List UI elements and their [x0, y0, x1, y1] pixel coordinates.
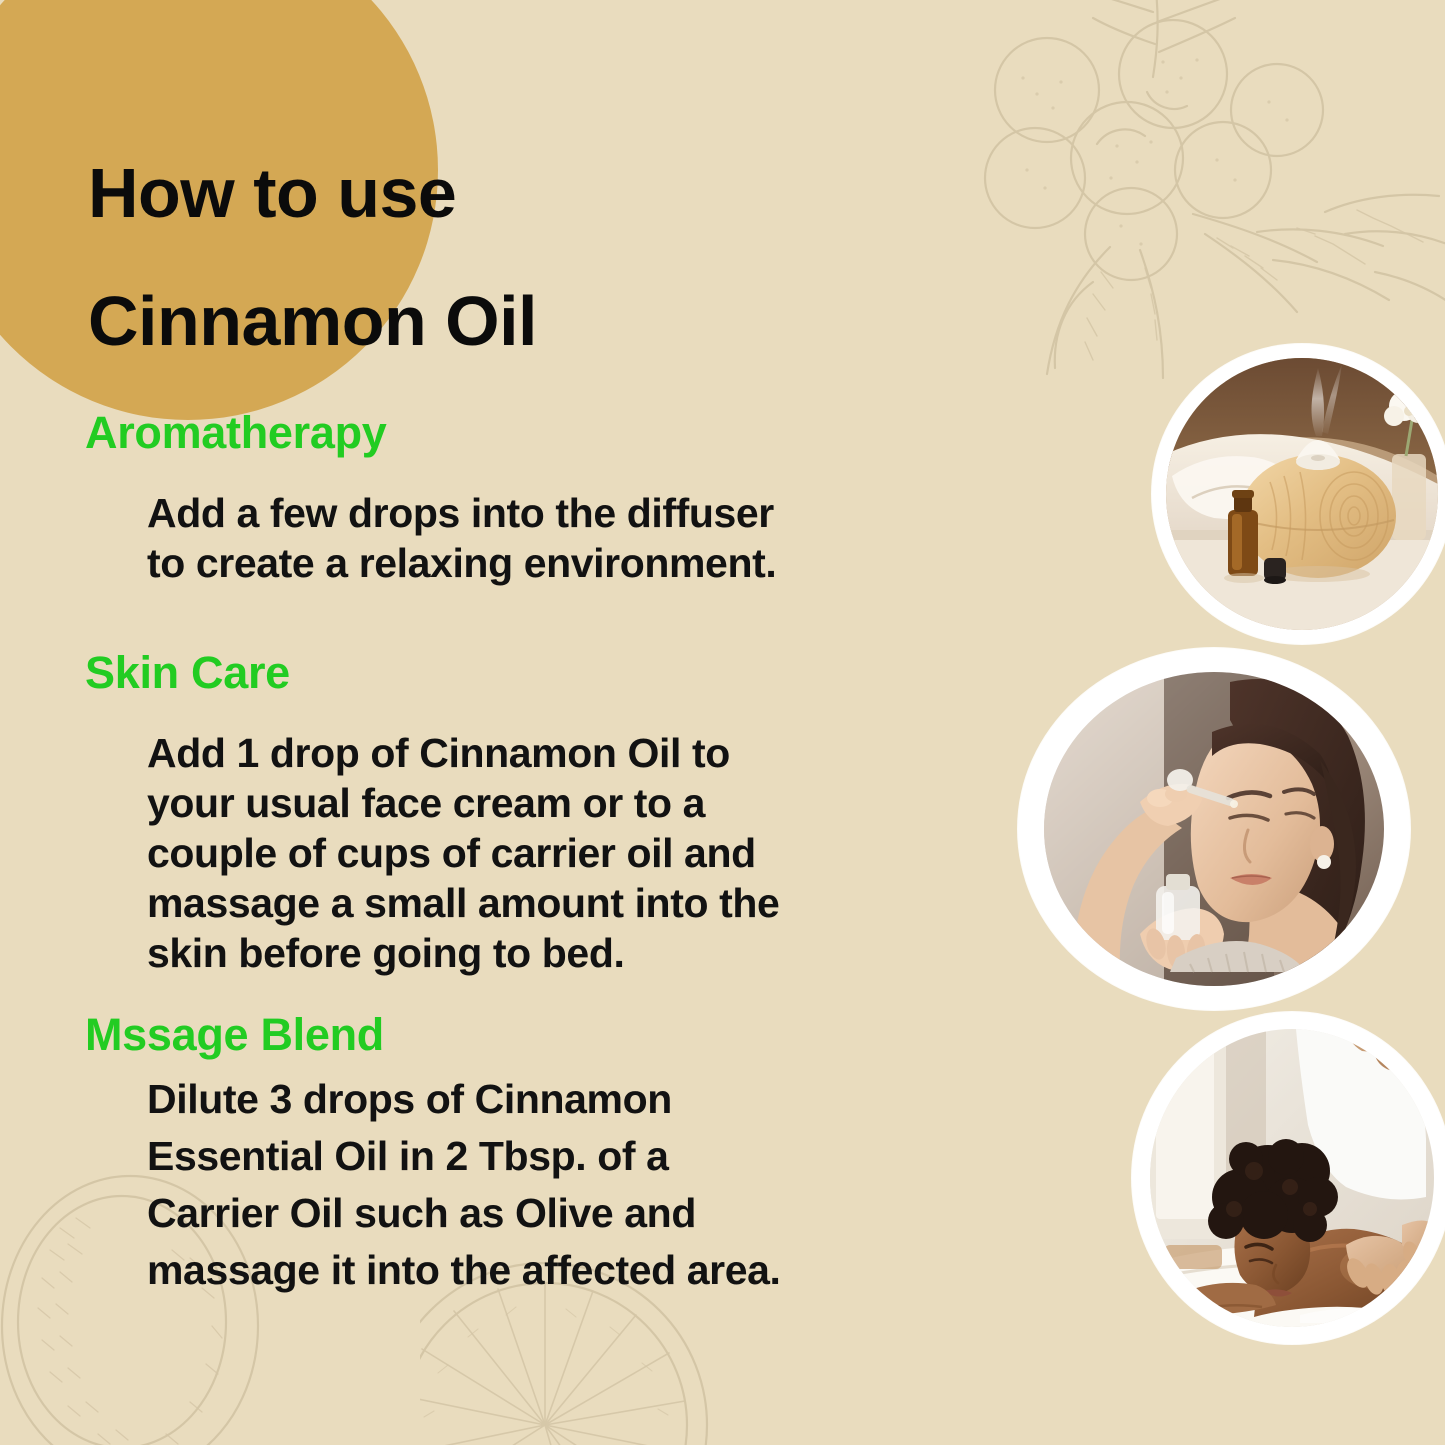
- body-line: Dilute 3 drops of Cinnamon: [147, 1071, 935, 1128]
- section-body-aromatherapy: Add a few drops into the diffuser to cre…: [147, 488, 935, 588]
- photo-massage-image: [1150, 1029, 1434, 1327]
- title-line-1: How to use: [88, 158, 908, 228]
- photo-massage: [1132, 1012, 1445, 1344]
- body-line: your usual face cream or to a: [147, 778, 935, 828]
- body-line: Add a few drops into the diffuser: [147, 488, 935, 538]
- body-line: Essential Oil in 2 Tbsp. of a: [147, 1128, 935, 1185]
- body-line: to create a relaxing environment.: [147, 538, 935, 588]
- photo-diffuser-image: [1166, 358, 1438, 630]
- photo-skin-care: [1018, 648, 1410, 1010]
- section-massage-blend: Mssage Blend Dilute 3 drops of Cinnamon …: [85, 1012, 935, 1299]
- section-body-massage-blend: Dilute 3 drops of Cinnamon Essential Oil…: [147, 1071, 935, 1299]
- body-line: Carrier Oil such as Olive and: [147, 1185, 935, 1242]
- infographic-poster: How to use Cinnamon Oil Aromatherapy Add…: [0, 0, 1445, 1445]
- photo-diffuser: [1152, 344, 1445, 644]
- body-line: massage a small amount into the: [147, 878, 935, 928]
- section-aromatherapy: Aromatherapy Add a few drops into the di…: [85, 410, 935, 588]
- section-heading-aromatherapy: Aromatherapy: [85, 410, 935, 455]
- content-column: How to use Cinnamon Oil Aromatherapy Add…: [0, 0, 960, 1445]
- section-heading-massage-blend: Mssage Blend: [85, 1012, 935, 1057]
- body-line: couple of cups of carrier oil and: [147, 828, 935, 878]
- section-body-skin-care: Add 1 drop of Cinnamon Oil to your usual…: [147, 728, 935, 978]
- page-title: How to use Cinnamon Oil: [88, 158, 908, 356]
- title-line-2: Cinnamon Oil: [88, 286, 908, 356]
- section-skin-care: Skin Care Add 1 drop of Cinnamon Oil to …: [85, 650, 935, 978]
- photo-skin-care-image: [1044, 672, 1384, 986]
- berry-branch-watermark-illustration: [905, 0, 1445, 412]
- body-line: massage it into the affected area.: [147, 1242, 935, 1299]
- section-heading-skin-care: Skin Care: [85, 650, 935, 695]
- body-line: Add 1 drop of Cinnamon Oil to: [147, 728, 935, 778]
- body-line: skin before going to bed.: [147, 928, 935, 978]
